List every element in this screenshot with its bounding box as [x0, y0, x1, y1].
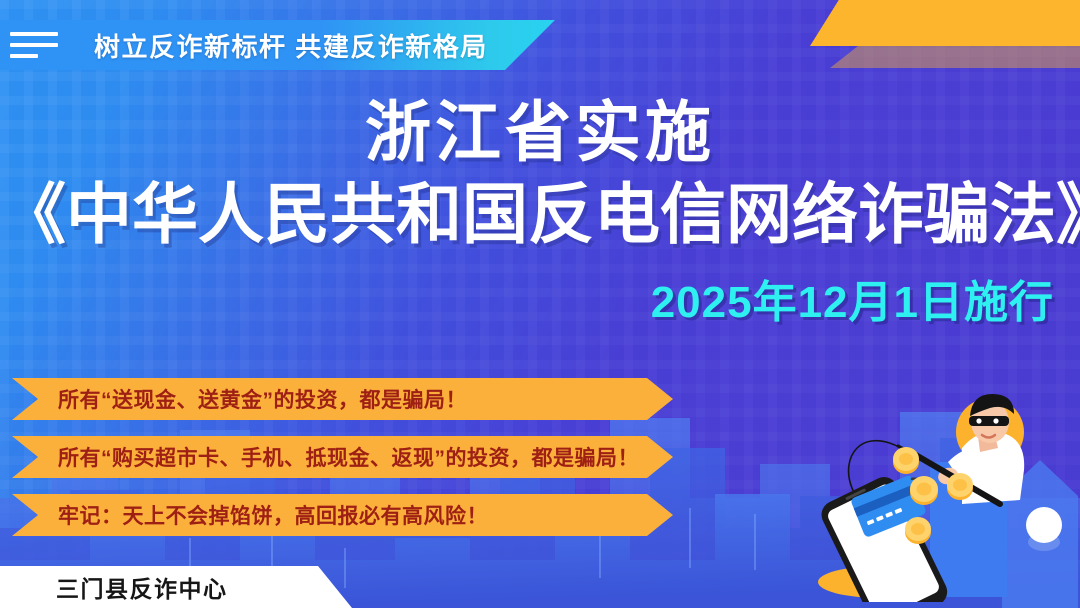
warning-banner-text: 所有“购买超市卡、手机、抵现金、返现”的投资，都是骗局！ [58, 442, 639, 472]
footer-organization-name: 三门县反诈中心 [56, 570, 228, 604]
gold-coin-icon [893, 447, 919, 474]
page-title-line2: 《中华人民共和国反电信网络诈骗法》办法 [0, 176, 1080, 254]
warning-banner-text: 牢记：天上不会掉馅饼，高回报必有高风险！ [58, 500, 488, 530]
gold-coin-icon [910, 476, 938, 505]
warning-banner: 牢记：天上不会掉馅饼，高回报必有高风险！ [12, 494, 673, 536]
gold-coin-icon [905, 517, 931, 544]
footer-bar: 三门县反诈中心 [0, 566, 352, 608]
page-title-line1: 浙江省实施 [0, 96, 1080, 170]
corner-orange-block [810, 0, 1080, 46]
warning-banner-text: 所有“送现金、送黄金”的投资，都是骗局！ [58, 384, 467, 414]
anti-fraud-poster: 树立反诈新标杆 共建反诈新格局 浙江省实施 《中华人民共和国反电信网络诈骗法》办… [0, 0, 1080, 608]
warning-banner: 所有“购买超市卡、手机、抵现金、返现”的投资，都是骗局！ [12, 436, 673, 478]
phishing-scam-illustration [802, 392, 1074, 602]
title-block: 浙江省实施 《中华人民共和国反电信网络诈骗法》办法 2025年12月1日施行 [0, 96, 1080, 330]
gold-coin-icon [947, 473, 973, 500]
corner-orange-shadow-band [830, 46, 1080, 68]
header-ribbon: 树立反诈新标杆 共建反诈新格局 [0, 20, 555, 70]
effective-date-text: 2025年12月1日施行 [0, 266, 1080, 330]
warning-banner-list: 所有“送现金、送黄金”的投资，都是骗局！ 所有“购买超市卡、手机、抵现金、返现”… [12, 378, 673, 536]
header-slogan: 树立反诈新标杆 共建反诈新格局 [94, 27, 488, 64]
hamburger-menu-icon[interactable] [10, 30, 68, 60]
warning-banner: 所有“送现金、送黄金”的投资，都是骗局！ [12, 378, 673, 420]
